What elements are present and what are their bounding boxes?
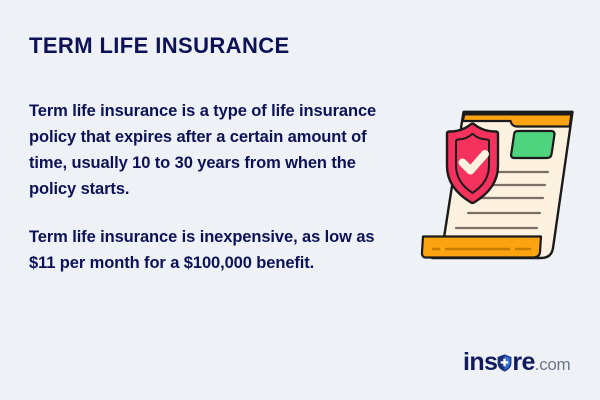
- body-paragraph-1: Term life insurance is a type of life in…: [29, 98, 401, 202]
- document-highlight-box: [511, 131, 554, 158]
- logo-tld: .com: [535, 356, 571, 373]
- logo-text-part-1: ins: [463, 350, 497, 375]
- infographic-card: TERM LIFE INSURANCE Term life insurance …: [0, 0, 600, 400]
- document-top-strip: [463, 111, 573, 116]
- body-paragraph-2: Term life insurance is inexpensive, as l…: [29, 224, 401, 276]
- page-title: TERM LIFE INSURANCE: [29, 33, 290, 59]
- shield-cross-icon: [497, 354, 512, 372]
- document-base-tray: [422, 237, 541, 258]
- logo-text-part-2: re: [512, 350, 534, 375]
- insurance-policy-illustration: [400, 88, 585, 273]
- insure-com-logo[interactable]: ins re .com: [463, 350, 570, 378]
